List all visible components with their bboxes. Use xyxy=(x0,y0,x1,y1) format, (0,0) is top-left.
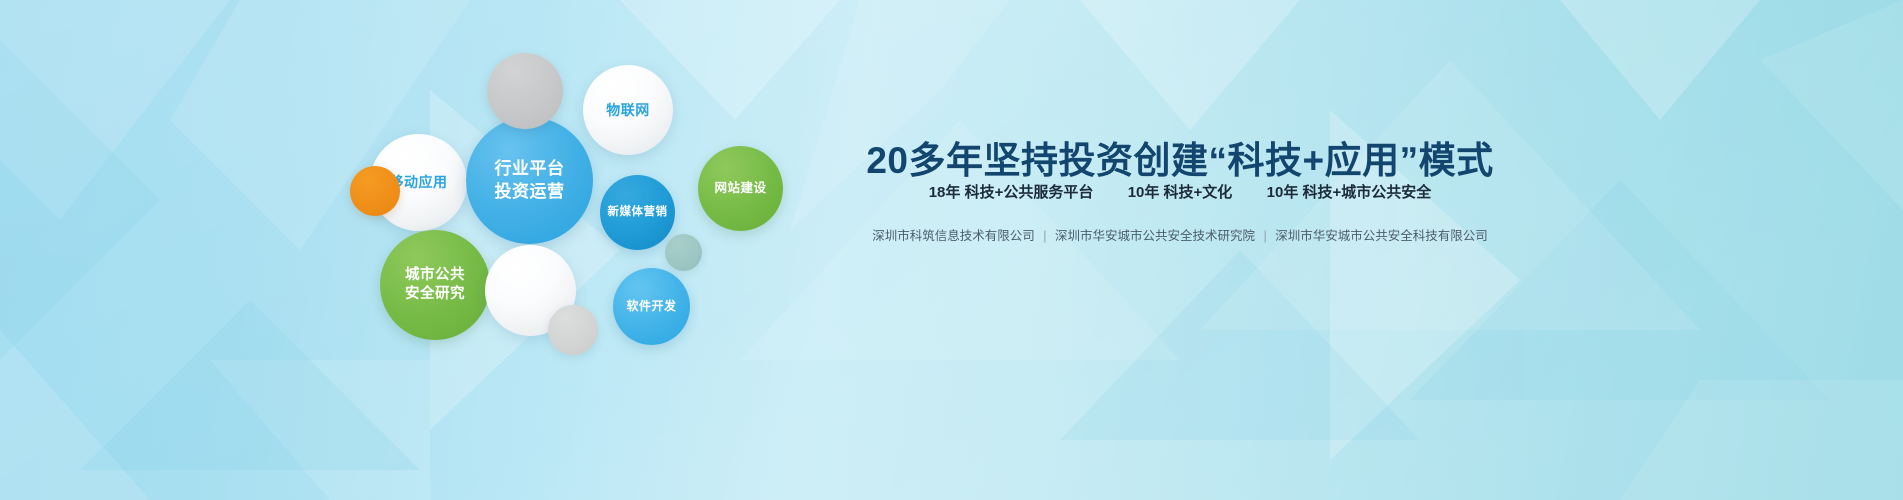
organization-name-3: 深圳市华安城市公共安全科技有限公司 xyxy=(1275,229,1488,243)
milestone-item-2: 10年 科技+文化 xyxy=(1128,184,1233,201)
service-bubble-cluster: 移动应用行业平台 投资运营物联网城市公共 安全研究新媒体营销网站建设软件开发 xyxy=(0,0,860,500)
decor-circle-decor-gray-bottom xyxy=(548,305,598,355)
bubble-website-build[interactable]: 网站建设 xyxy=(698,146,783,231)
organization-list: 深圳市科筑信息技术有限公司 | 深圳市华安城市公共安全技术研究院 | 深圳市华安… xyxy=(830,225,1530,244)
milestone-item-3: 10年 科技+城市公共安全 xyxy=(1267,184,1432,201)
organization-separator: | xyxy=(1258,229,1271,243)
decor-circle-decor-teal xyxy=(665,234,702,271)
milestone-list: 18年 科技+公共服务平台 10年 科技+文化 10年 科技+城市公共安全 xyxy=(830,181,1530,202)
bubble-industry-platform[interactable]: 行业平台 投资运营 xyxy=(466,117,593,244)
milestone-item-1: 18年 科技+公共服务平台 xyxy=(929,184,1094,201)
bubble-iot[interactable]: 物联网 xyxy=(583,65,673,155)
organization-name-1: 深圳市科筑信息技术有限公司 xyxy=(872,229,1035,243)
page-title: 20多年坚持投资创建“科技+应用”模式 xyxy=(830,130,1530,184)
bubble-software-dev[interactable]: 软件开发 xyxy=(613,268,690,345)
decor-circle-decor-orange xyxy=(350,166,400,216)
hero-banner: 移动应用行业平台 投资运营物联网城市公共 安全研究新媒体营销网站建设软件开发 2… xyxy=(0,0,1903,500)
bubble-new-media[interactable]: 新媒体营销 xyxy=(600,175,675,250)
organization-name-2: 深圳市华安城市公共安全技术研究院 xyxy=(1055,229,1255,243)
bubble-urban-safety[interactable]: 城市公共 安全研究 xyxy=(380,230,490,340)
decor-circle-decor-gray-top xyxy=(487,53,563,129)
banner-copy: 20多年坚持投资创建“科技+应用”模式 18年 科技+公共服务平台 10年 科技… xyxy=(830,0,1530,500)
organization-separator: | xyxy=(1038,229,1051,243)
